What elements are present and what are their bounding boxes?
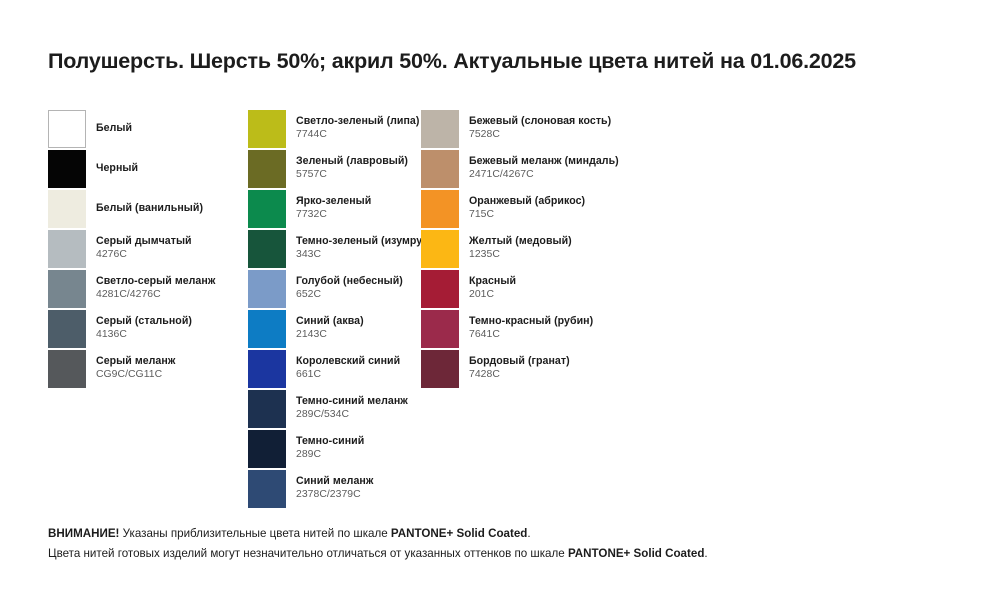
swatch-text: Бежевый (слоновая кость)7528C bbox=[469, 115, 749, 141]
swatch-pantone-code: 1235C bbox=[469, 248, 749, 261]
color-swatch bbox=[421, 150, 459, 188]
swatch-text: Желтый (медовый)1235C bbox=[469, 235, 749, 261]
swatch-name: Красный bbox=[469, 275, 749, 288]
swatch-pantone-code: 7528C bbox=[469, 128, 749, 141]
swatch-text: Темно-красный (рубин)7641C bbox=[469, 315, 749, 341]
swatch-text: Бежевый меланж (миндаль)2471C/4267C bbox=[469, 155, 749, 181]
swatch-row: Оранжевый (абрикос)715C bbox=[421, 190, 751, 230]
footer-line-1-end: . bbox=[527, 527, 530, 540]
color-swatch bbox=[248, 310, 286, 348]
swatch-pantone-code: 2378C/2379C bbox=[296, 488, 576, 501]
swatch-row: Красный201C bbox=[421, 270, 751, 310]
footer-pantone-label-2: PANTONE+ Solid Coated bbox=[568, 547, 704, 560]
color-swatch bbox=[421, 230, 459, 268]
color-swatch bbox=[421, 310, 459, 348]
color-swatch bbox=[48, 270, 86, 308]
swatch-row: Бежевый (слоновая кость)7528C bbox=[421, 110, 751, 150]
footer-attention-label: ВНИМАНИЕ! bbox=[48, 527, 119, 540]
color-chart-page: Полушерсть. Шерсть 50%; акрил 50%. Актуа… bbox=[0, 0, 1000, 609]
swatch-name: Оранжевый (абрикос) bbox=[469, 195, 749, 208]
color-swatch bbox=[48, 110, 86, 148]
color-swatch bbox=[48, 310, 86, 348]
color-swatch bbox=[421, 270, 459, 308]
swatch-row: Темно-синий289C bbox=[248, 430, 578, 470]
color-swatch bbox=[48, 190, 86, 228]
swatch-name: Темно-синий bbox=[296, 435, 576, 448]
swatch-name: Синий меланж bbox=[296, 475, 576, 488]
color-swatch bbox=[421, 350, 459, 388]
swatch-pantone-code: 7641C bbox=[469, 328, 749, 341]
footer-line-2-text: Цвета нитей готовых изделий могут незнач… bbox=[48, 547, 568, 560]
swatch-name: Темно-красный (рубин) bbox=[469, 315, 749, 328]
swatch-text: Бордовый (гранат)7428C bbox=[469, 355, 749, 381]
color-swatch bbox=[421, 190, 459, 228]
swatch-row: Темно-синий меланж289C/534C bbox=[248, 390, 578, 430]
swatch-pantone-code: 7428C bbox=[469, 368, 749, 381]
color-swatch bbox=[248, 230, 286, 268]
swatch-name: Темно-синий меланж bbox=[296, 395, 576, 408]
footer-line-1: ВНИМАНИЕ! Указаны приблизительные цвета … bbox=[48, 524, 948, 544]
swatch-name: Бежевый меланж (миндаль) bbox=[469, 155, 749, 168]
swatch-name: Бордовый (гранат) bbox=[469, 355, 749, 368]
color-swatch bbox=[421, 110, 459, 148]
swatch-name: Желтый (медовый) bbox=[469, 235, 749, 248]
swatch-name: Бежевый (слоновая кость) bbox=[469, 115, 749, 128]
swatch-text: Темно-синий меланж289C/534C bbox=[296, 395, 576, 421]
swatch-pantone-code: 289C bbox=[296, 448, 576, 461]
color-swatch bbox=[248, 390, 286, 428]
footer-line-2: Цвета нитей готовых изделий могут незнач… bbox=[48, 544, 948, 564]
footer-pantone-label-1: PANTONE+ Solid Coated bbox=[391, 527, 527, 540]
swatch-column-warm: Бежевый (слоновая кость)7528CБежевый мел… bbox=[421, 110, 751, 390]
color-swatch bbox=[48, 150, 86, 188]
swatch-text: Темно-синий289C bbox=[296, 435, 576, 461]
swatch-row: Бордовый (гранат)7428C bbox=[421, 350, 751, 390]
swatch-row: Синий меланж2378C/2379C bbox=[248, 470, 578, 510]
swatch-row: Желтый (медовый)1235C bbox=[421, 230, 751, 270]
swatch-text: Красный201C bbox=[469, 275, 749, 301]
swatch-pantone-code: 715C bbox=[469, 208, 749, 221]
swatch-row: Бежевый меланж (миндаль)2471C/4267C bbox=[421, 150, 751, 190]
swatch-pantone-code: 289C/534C bbox=[296, 408, 576, 421]
color-swatch bbox=[248, 350, 286, 388]
color-swatch bbox=[248, 150, 286, 188]
page-title: Полушерсть. Шерсть 50%; акрил 50%. Актуа… bbox=[48, 49, 856, 74]
color-swatch bbox=[248, 190, 286, 228]
color-swatch bbox=[248, 470, 286, 508]
swatch-row: Темно-красный (рубин)7641C bbox=[421, 310, 751, 350]
color-swatch bbox=[248, 110, 286, 148]
swatch-text: Оранжевый (абрикос)715C bbox=[469, 195, 749, 221]
color-swatch bbox=[48, 230, 86, 268]
footer-disclaimer: ВНИМАНИЕ! Указаны приблизительные цвета … bbox=[48, 524, 948, 564]
footer-line-1-text: Указаны приблизительные цвета нитей по ш… bbox=[119, 527, 390, 540]
color-swatch bbox=[48, 350, 86, 388]
swatch-pantone-code: 2471C/4267C bbox=[469, 168, 749, 181]
color-swatch bbox=[248, 430, 286, 468]
swatch-pantone-code: 201C bbox=[469, 288, 749, 301]
color-swatch bbox=[248, 270, 286, 308]
swatch-text: Синий меланж2378C/2379C bbox=[296, 475, 576, 501]
footer-line-2-end: . bbox=[704, 547, 707, 560]
